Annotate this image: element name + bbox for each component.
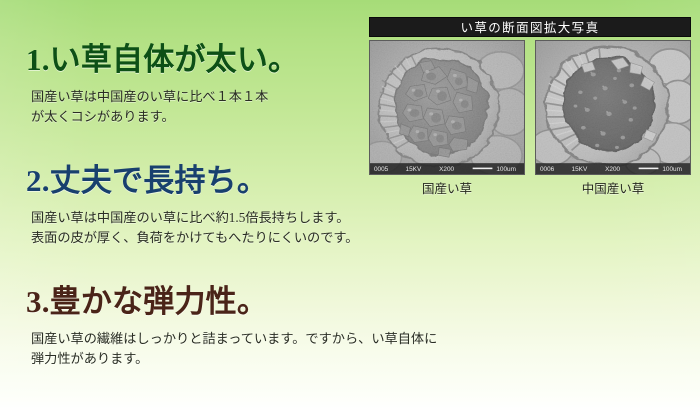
sem-micrograph-chinese-icon: 0006 15KV X200 100um <box>535 40 691 175</box>
feature-heading-3: 3.豊かな弾力性。 <box>0 284 366 320</box>
feature-body-1-line-1: 国産い草は中国産のい草に比べ１本１本 <box>31 87 366 107</box>
sem-micrograph-domestic-icon: 0005 15KV X200 100um <box>369 40 525 175</box>
feature-body-3-line-2: 弾力性があります。 <box>31 349 366 369</box>
photo-panel-banner: い草の断面図拡大写真 <box>369 17 691 37</box>
feature-body-1: 国産い草は中国産のい草に比べ１本１本 が太くコシがあります。 <box>0 78 366 127</box>
poster-root: 1.い草自体が太い。 国産い草は中国産のい草に比べ１本１本 が太くコシがあります… <box>0 0 700 411</box>
feature-block-1: 1.い草自体が太い。 国産い草は中国産のい草に比べ１本１本 が太くコシがあります… <box>0 42 366 127</box>
photo-caption-chinese: 中国産い草 <box>535 175 691 197</box>
svg-text:X200: X200 <box>439 166 454 173</box>
svg-text:100um: 100um <box>496 166 516 173</box>
svg-text:0006: 0006 <box>540 166 555 173</box>
feature-heading-1: 1.い草自体が太い。 <box>0 42 366 78</box>
features-column: 1.い草自体が太い。 国産い草は中国産のい草に比べ１本１本 が太くコシがあります… <box>0 0 366 411</box>
photo-caption-domestic: 国産い草 <box>369 175 525 197</box>
svg-text:100um: 100um <box>662 166 682 173</box>
feature-body-2-line-2: 表面の皮が厚く、負荷をかけてもへたりにくいのです。 <box>31 228 366 248</box>
feature-body-3-line-1: 国産い草の繊維はしっかりと詰まっています。ですから、い草自体に <box>31 329 366 349</box>
photo-panel: い草の断面図拡大写真 <box>366 0 700 411</box>
feature-body-1-line-2: が太くコシがあります。 <box>31 107 366 127</box>
photo-cell-chinese: 0006 15KV X200 100um 中国産い草 <box>535 40 691 197</box>
feature-block-3: 3.豊かな弾力性。 国産い草の繊維はしっかりと詰まっています。ですから、い草自体… <box>0 284 366 369</box>
feature-body-2-line-1: 国産い草は中国産のい草に比べ約1.5倍長持ちします。 <box>31 208 366 228</box>
svg-text:15KV: 15KV <box>572 166 588 173</box>
svg-text:15KV: 15KV <box>406 166 422 173</box>
feature-body-3: 国産い草の繊維はしっかりと詰まっています。ですから、い草自体に 弾力性があります… <box>0 320 366 369</box>
svg-text:X200: X200 <box>605 166 620 173</box>
feature-block-2: 2.丈夫で長持ち。 国産い草は中国産のい草に比べ約1.5倍長持ちします。 表面の… <box>0 163 366 248</box>
svg-text:0005: 0005 <box>374 166 389 173</box>
feature-body-2: 国産い草は中国産のい草に比べ約1.5倍長持ちします。 表面の皮が厚く、負荷をかけ… <box>0 199 366 248</box>
photo-cell-domestic: 0005 15KV X200 100um 国産い草 <box>369 40 525 197</box>
feature-heading-2: 2.丈夫で長持ち。 <box>0 163 366 199</box>
photo-row: 0005 15KV X200 100um 国産い草 <box>369 40 691 197</box>
